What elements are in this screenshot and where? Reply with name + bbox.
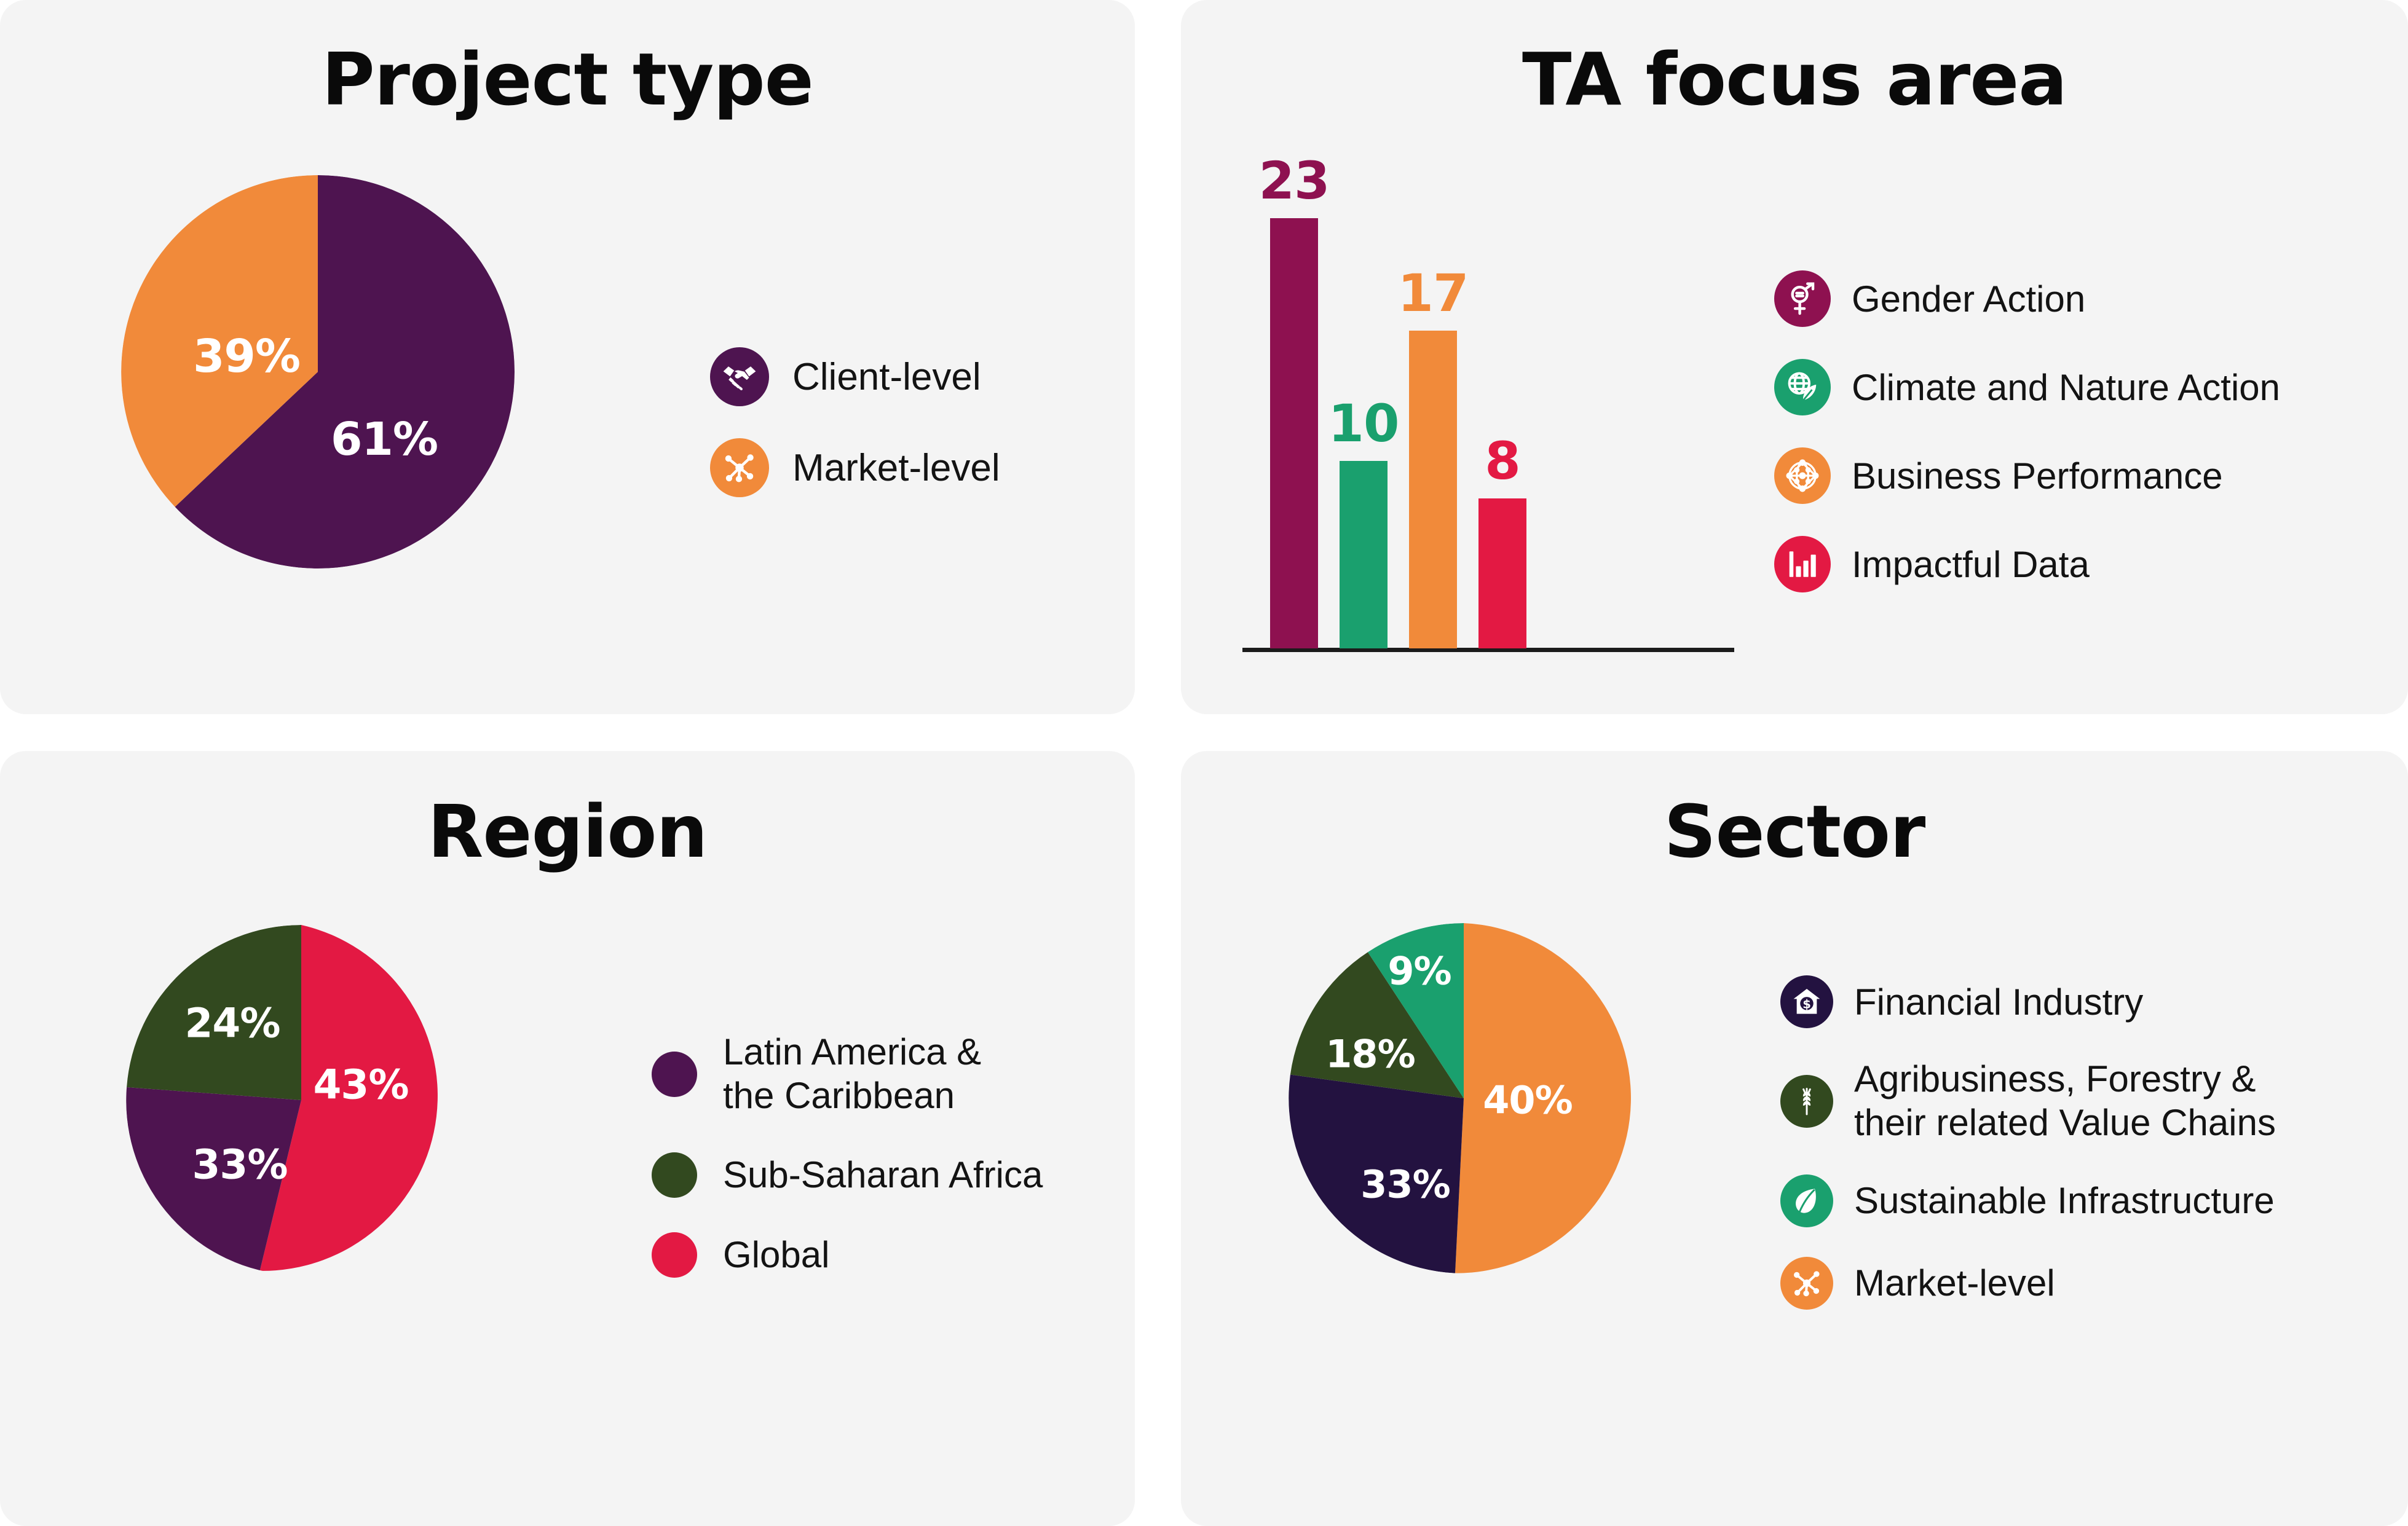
bank-dollar-icon: $ xyxy=(1780,975,1833,1028)
legend-label-gender-action: Gender Action xyxy=(1852,278,2085,320)
legend-label-business-performance: Business Performance xyxy=(1852,455,2223,497)
color-dot-icon-global xyxy=(652,1232,697,1278)
legend-ta-focus-area: Gender Action Climate and Nature Action xyxy=(1774,270,2280,592)
page-title-region: Region xyxy=(0,789,1135,874)
legend-item-financial-industry[interactable]: $ Financial Industry xyxy=(1780,975,2276,1028)
network-nodes-icon xyxy=(710,438,769,497)
legend-item-gender-action[interactable]: Gender Action xyxy=(1774,270,2280,327)
pie-chart-sector: 9% 18% 33% 40% xyxy=(1289,923,1639,1273)
pie-label-latin-america: 33% xyxy=(192,1141,288,1189)
legend-label-sub-saharan-africa: Sub-Saharan Africa xyxy=(723,1154,1043,1196)
legend-region: Latin America & the Caribbean Sub-Sahara… xyxy=(652,1031,1043,1278)
pie-svg-project-type xyxy=(121,175,515,568)
globe-network-icon xyxy=(1774,447,1831,504)
legend-item-global[interactable]: Global xyxy=(652,1232,1043,1278)
legend-item-climate-nature-action[interactable]: Climate and Nature Action xyxy=(1774,359,2280,415)
card-region: Region 24% 33% 43% Latin America & the C… xyxy=(0,751,1135,1526)
legend-project-type: Client-level xyxy=(710,347,1000,497)
pie-label-sustainable-infrastructure: 9% xyxy=(1388,949,1451,994)
pie-label-financial-industry: 33% xyxy=(1360,1162,1450,1207)
bar-rect-climate-nature-action xyxy=(1340,461,1388,648)
network-nodes-icon xyxy=(1780,1257,1833,1310)
legend-item-client-level[interactable]: Client-level xyxy=(710,347,1000,406)
bar-rect-impactful-data xyxy=(1478,498,1526,648)
legend-sector: $ Financial Industry xyxy=(1780,975,2276,1310)
pie-svg-region xyxy=(126,925,476,1275)
legend-label-market-level: Market-level xyxy=(792,446,1000,490)
handshake-icon xyxy=(710,347,769,406)
bar-value-climate-nature-action: 10 xyxy=(1328,393,1399,454)
leaf-icon xyxy=(1780,1174,1833,1227)
legend-label-sustainable-infrastructure: Sustainable Infrastructure xyxy=(1854,1179,2275,1222)
pie-label-agribusiness: 18% xyxy=(1325,1032,1415,1077)
bar-column-climate-nature-action[interactable]: 10 xyxy=(1340,461,1388,648)
bar-column-business-performance[interactable]: 17 xyxy=(1409,331,1457,648)
card-project-type: Project type 39% 61% xyxy=(0,0,1135,714)
legend-item-impactful-data[interactable]: Impactful Data xyxy=(1774,536,2280,592)
svg-text:$: $ xyxy=(1802,997,1811,1012)
gender-equality-icon xyxy=(1774,270,1831,327)
bar-chart-ta-focus-area: 23 10 17 8 xyxy=(1252,157,1743,648)
legend-label-global: Global xyxy=(723,1233,829,1276)
legend-label-market-level: Market-level xyxy=(1854,1262,2055,1304)
globe-leaf-icon xyxy=(1774,359,1831,415)
bar-chart-icon xyxy=(1774,536,1831,592)
pie-label-market-level: 39% xyxy=(193,330,300,383)
bar-rect-gender-action xyxy=(1270,218,1318,648)
pie-chart-project-type: 39% 61% xyxy=(121,175,515,568)
card-sector: Sector 9% 18% 33% 40% xyxy=(1181,751,2408,1526)
pie-chart-region: 24% 33% 43% xyxy=(126,925,476,1275)
pie-label-client-level: 61% xyxy=(331,413,438,466)
page-title-project-type: Project type xyxy=(0,37,1135,122)
legend-item-agribusiness[interactable]: Agribusiness, Forestry & their related V… xyxy=(1780,1058,2276,1145)
color-dot-icon-sub-saharan-africa xyxy=(652,1152,697,1198)
legend-item-sub-saharan-africa[interactable]: Sub-Saharan Africa xyxy=(652,1152,1043,1198)
legend-item-latin-america[interactable]: Latin America & the Caribbean xyxy=(652,1031,1043,1118)
legend-item-market-level[interactable]: Market-level xyxy=(1780,1257,2276,1310)
legend-label-impactful-data: Impactful Data xyxy=(1852,543,2090,586)
bar-column-gender-action[interactable]: 23 xyxy=(1270,218,1318,648)
legend-label-financial-industry: Financial Industry xyxy=(1854,981,2143,1023)
legend-label-latin-america: Latin America & the Caribbean xyxy=(723,1031,981,1118)
charts-dashboard: Project type 39% 61% xyxy=(0,0,2408,1526)
legend-label-client-level: Client-level xyxy=(792,355,981,399)
legend-label-climate-nature-action: Climate and Nature Action xyxy=(1852,366,2280,409)
bar-value-impactful-data: 8 xyxy=(1485,431,1520,491)
page-title-ta-focus-area: TA focus area xyxy=(1181,37,2408,122)
pie-label-global: 43% xyxy=(314,1061,409,1109)
pie-svg-sector xyxy=(1289,923,1639,1273)
legend-item-market-level[interactable]: Market-level xyxy=(710,438,1000,497)
bar-value-gender-action: 23 xyxy=(1259,151,1330,211)
color-dot-icon-latin-america xyxy=(652,1052,697,1097)
bar-rect-business-performance xyxy=(1409,331,1457,648)
card-ta-focus-area: TA focus area 23 10 17 8 xyxy=(1181,0,2408,714)
page-title-sector: Sector xyxy=(1181,789,2408,874)
legend-item-sustainable-infrastructure[interactable]: Sustainable Infrastructure xyxy=(1780,1174,2276,1227)
bar-value-business-performance: 17 xyxy=(1398,263,1469,323)
bar-column-impactful-data[interactable]: 8 xyxy=(1478,498,1526,648)
legend-item-business-performance[interactable]: Business Performance xyxy=(1774,447,2280,504)
legend-label-agribusiness: Agribusiness, Forestry & their related V… xyxy=(1854,1058,2276,1145)
pie-label-sub-saharan-africa: 24% xyxy=(185,1000,280,1047)
wheat-icon xyxy=(1780,1075,1833,1128)
pie-label-market-level: 40% xyxy=(1483,1078,1572,1123)
bar-chart-baseline xyxy=(1242,648,1734,652)
